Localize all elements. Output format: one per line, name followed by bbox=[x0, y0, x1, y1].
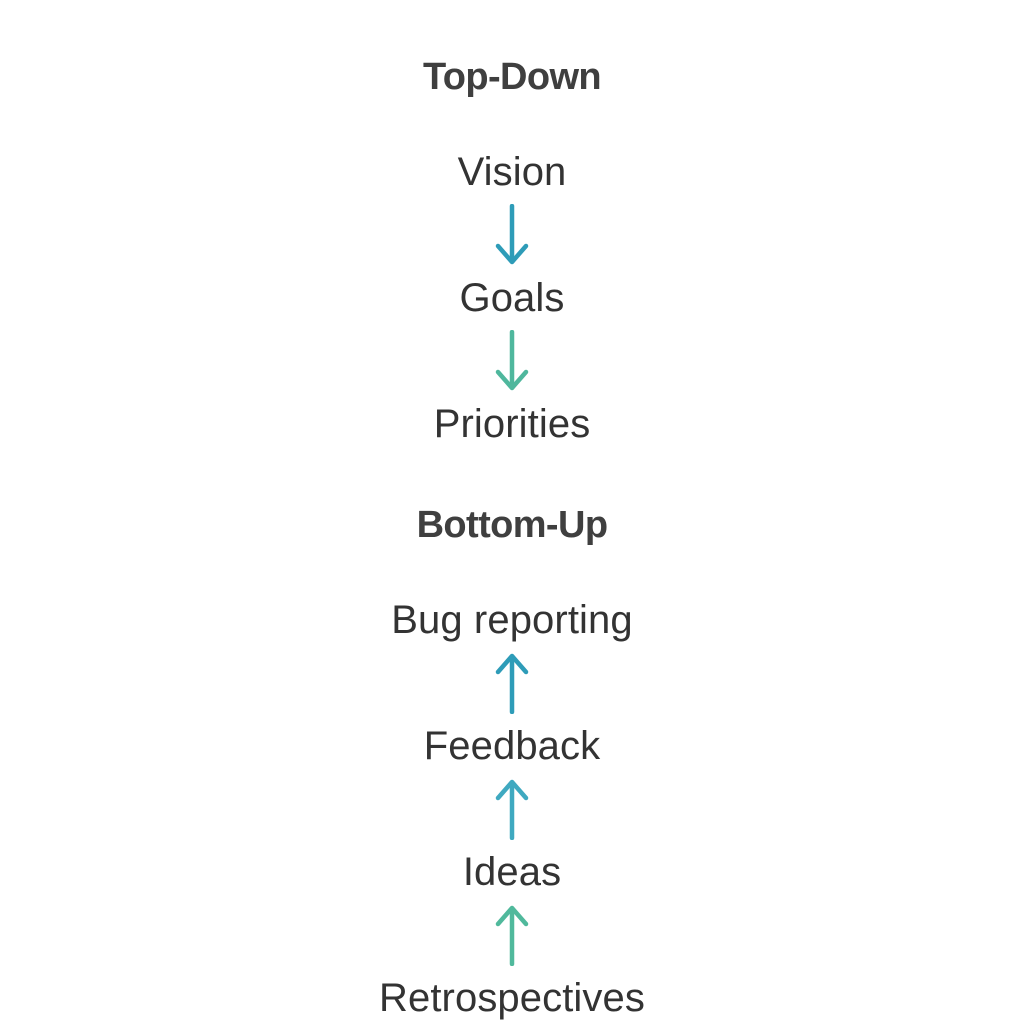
flow-chain-top-down: Vision Goals Priorities bbox=[434, 152, 591, 444]
arrow-up-icon bbox=[490, 652, 534, 714]
arrow-down-icon bbox=[490, 204, 534, 266]
section-top-down: Top-Down Vision Goals Pri bbox=[0, 58, 1024, 444]
flow-node-goals: Goals bbox=[460, 278, 565, 318]
arrow-up-icon bbox=[490, 904, 534, 966]
arrow-up-glyph-2 bbox=[498, 782, 526, 838]
flow-node-feedback: Feedback bbox=[424, 726, 600, 766]
section-heading-top-down: Top-Down bbox=[423, 58, 601, 96]
flow-node-bug-reporting: Bug reporting bbox=[391, 600, 632, 640]
diagram-canvas: Top-Down Vision Goals Pri bbox=[0, 0, 1024, 1024]
arrow-up-glyph-1 bbox=[498, 656, 526, 712]
arrow-down-glyph-1 bbox=[498, 206, 526, 262]
arrow-down-glyph-2 bbox=[498, 332, 526, 388]
flow-node-priorities: Priorities bbox=[434, 404, 591, 444]
arrow-up-glyph-3 bbox=[498, 908, 526, 964]
flow-chain-bottom-up: Bug reporting Feedback Ideas bbox=[379, 600, 645, 1018]
arrow-down-icon bbox=[490, 330, 534, 392]
arrow-up-icon bbox=[490, 778, 534, 840]
flow-node-retrospectives: Retrospectives bbox=[379, 978, 645, 1018]
section-bottom-up: Bottom-Up Bug reporting Feedback bbox=[0, 506, 1024, 1018]
section-heading-bottom-up: Bottom-Up bbox=[417, 506, 608, 544]
flow-node-ideas: Ideas bbox=[463, 852, 561, 892]
flow-node-vision: Vision bbox=[458, 152, 567, 192]
